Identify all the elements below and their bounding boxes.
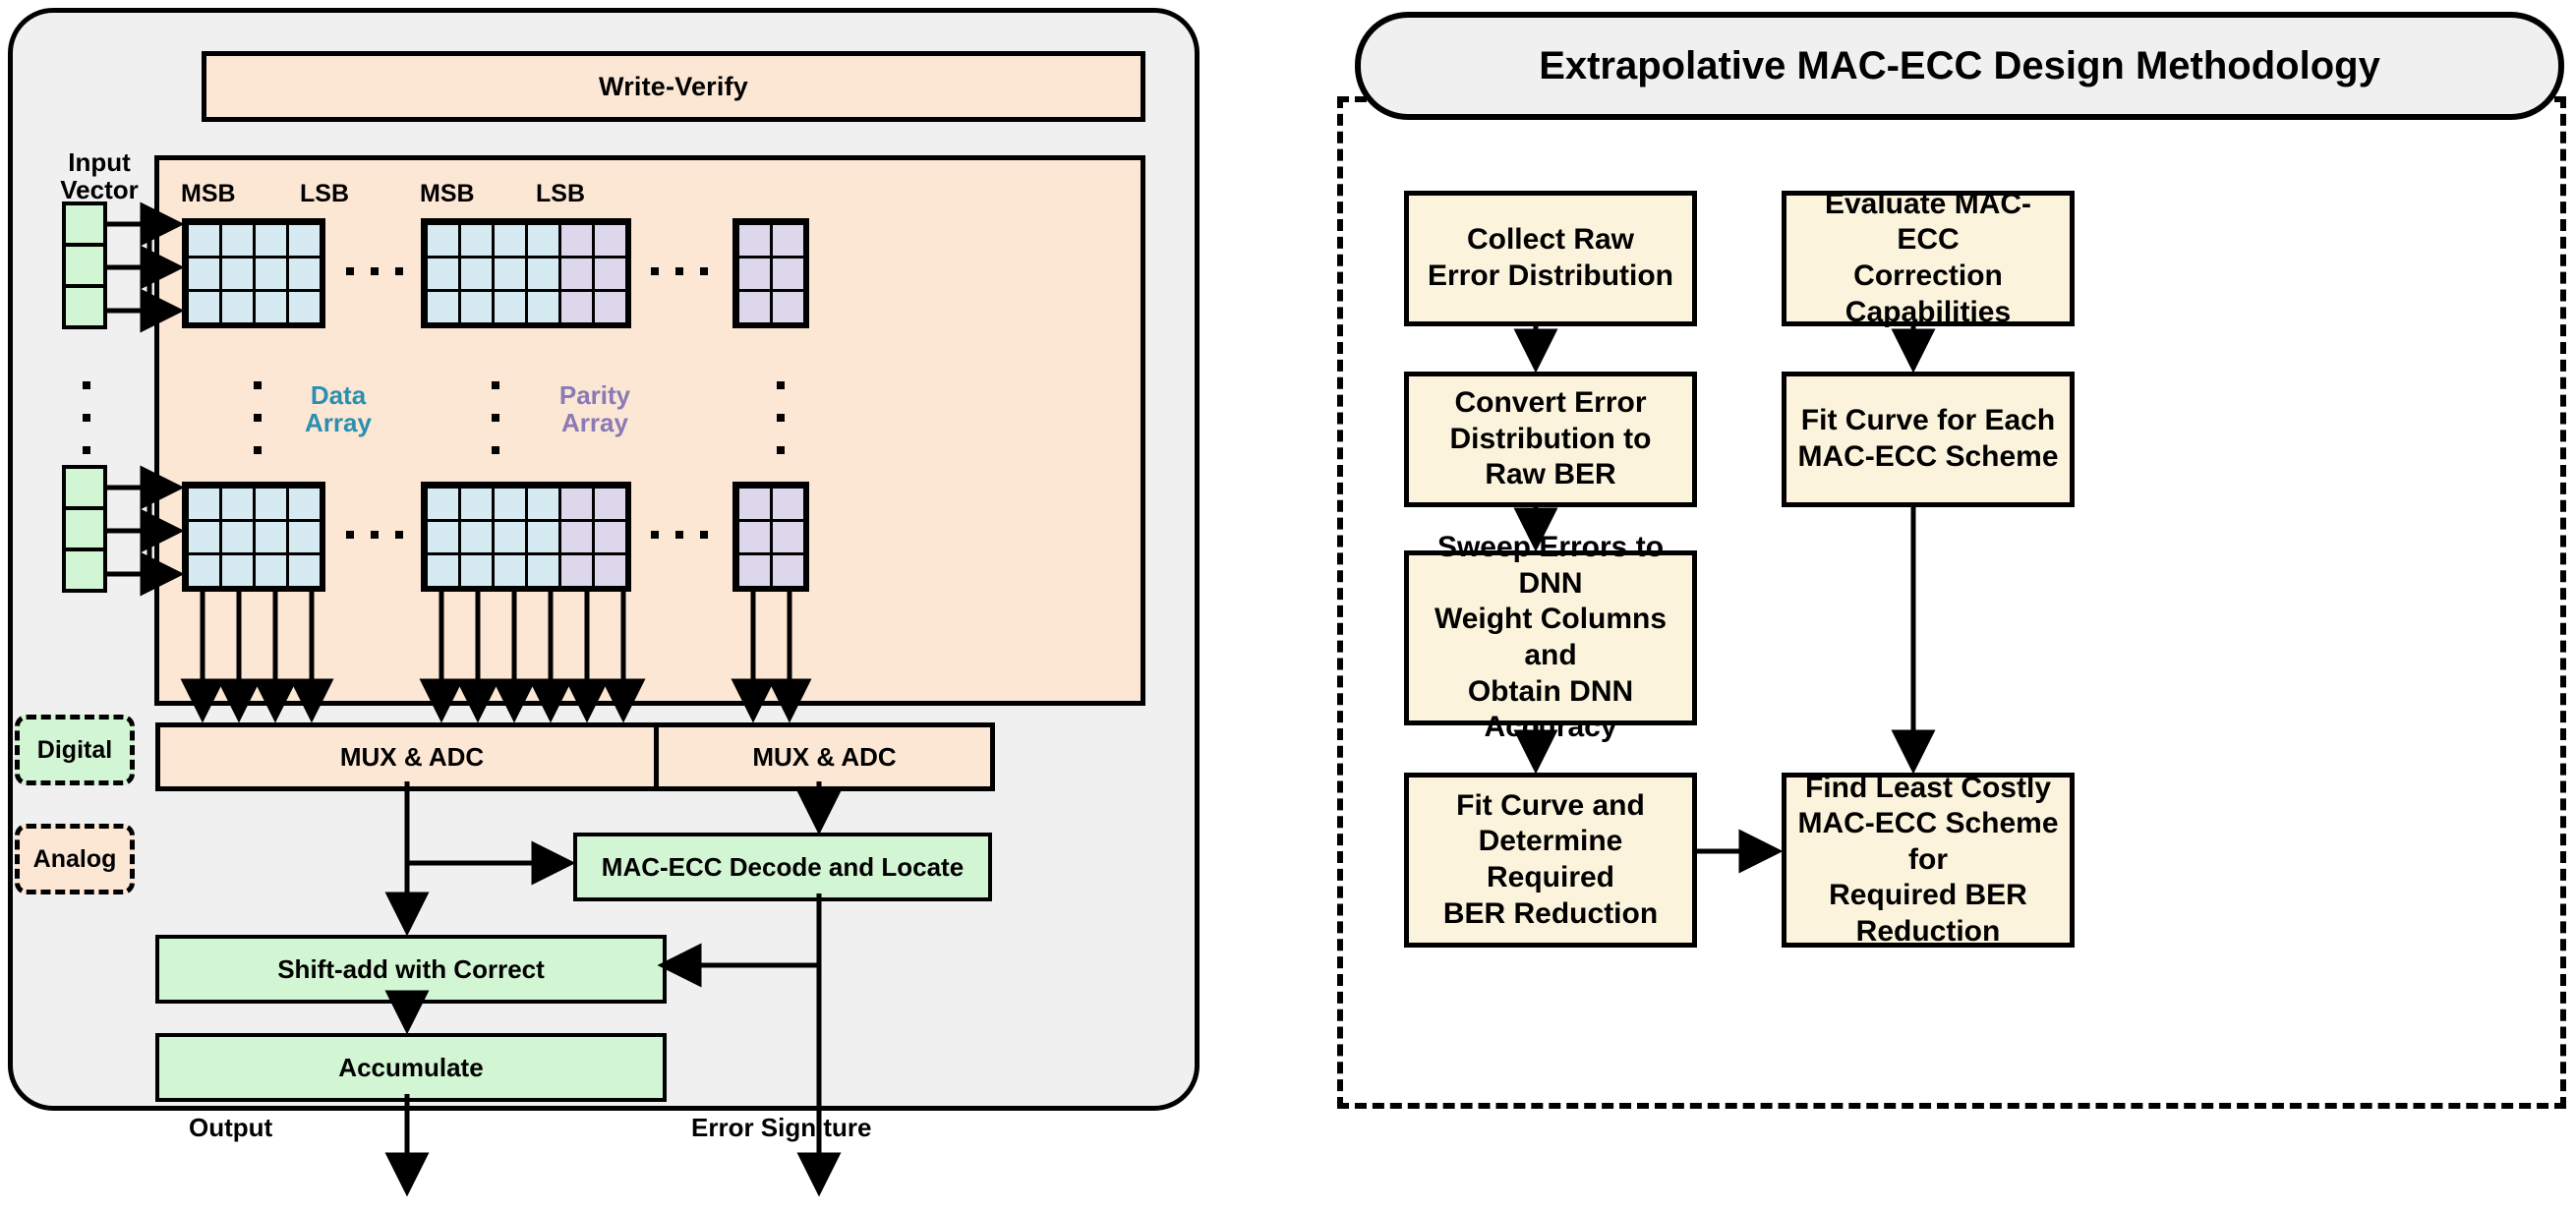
memory-cell bbox=[425, 222, 461, 259]
vertical-ellipsis-dot bbox=[777, 414, 785, 422]
vertical-ellipsis-dot bbox=[83, 381, 90, 389]
parity-cell-block bbox=[732, 218, 809, 328]
horizontal-ellipsis-dot bbox=[346, 531, 354, 539]
parity-cell bbox=[592, 222, 628, 259]
flow-box-evaluate-mac-ecc: Evaluate MAC-ECC Correction Capabilities bbox=[1782, 191, 2075, 326]
horizontal-ellipsis-dot bbox=[675, 531, 683, 539]
flow-box-label: Evaluate MAC-ECC Correction Capabilities bbox=[1796, 187, 2060, 330]
parity-cell bbox=[592, 289, 628, 325]
memory-cell bbox=[492, 486, 528, 522]
input-vector-cell bbox=[62, 465, 107, 510]
memory-cell bbox=[425, 552, 461, 589]
cell-column bbox=[426, 223, 459, 323]
mac-ecc-decode-label: MAC-ECC Decode and Locate bbox=[602, 852, 964, 883]
parity-cell bbox=[592, 486, 628, 522]
memory-cell bbox=[253, 256, 289, 292]
vertical-ellipsis-dot bbox=[777, 381, 785, 389]
parity-cell bbox=[558, 486, 595, 522]
cell-column bbox=[593, 223, 626, 323]
memory-cell bbox=[186, 222, 222, 259]
memory-cell bbox=[286, 222, 322, 259]
parity-cell bbox=[558, 552, 595, 589]
cell-column bbox=[287, 223, 321, 323]
vertical-ellipsis-dot bbox=[254, 446, 262, 454]
parity-cell bbox=[736, 222, 773, 259]
input-vector-cell bbox=[62, 202, 107, 247]
lsb-label-block1: LSB bbox=[300, 180, 349, 208]
flow-box-label: Collect Raw Error Distribution bbox=[1428, 222, 1673, 294]
cell-column bbox=[526, 487, 559, 587]
memory-cell bbox=[219, 552, 256, 589]
horizontal-ellipsis-dot bbox=[371, 531, 379, 539]
shift-add-label: Shift-add with Correct bbox=[277, 954, 545, 985]
memory-cell bbox=[458, 519, 495, 555]
horizontal-ellipsis-dot bbox=[675, 267, 683, 275]
memory-cell bbox=[186, 256, 222, 292]
memory-cell bbox=[219, 289, 256, 325]
memory-cell bbox=[253, 289, 289, 325]
mux-adc-parity-label: MUX & ADC bbox=[752, 742, 896, 773]
input-vector-group-bottom bbox=[62, 465, 107, 593]
memory-cell bbox=[525, 222, 561, 259]
memory-cell bbox=[253, 222, 289, 259]
cell-column bbox=[493, 487, 526, 587]
memory-cell bbox=[253, 519, 289, 555]
msb-label-block2: MSB bbox=[420, 180, 475, 208]
memory-cell bbox=[492, 519, 528, 555]
memory-cell bbox=[425, 519, 461, 555]
memory-cell bbox=[425, 486, 461, 522]
msb-label-block1: MSB bbox=[181, 180, 236, 208]
output-label: Output bbox=[189, 1113, 272, 1143]
memory-cell bbox=[458, 289, 495, 325]
parity-cell bbox=[736, 552, 773, 589]
parity-cell bbox=[558, 222, 595, 259]
parity-cell bbox=[736, 486, 773, 522]
data-parity-cell-block bbox=[421, 218, 631, 328]
mux-adc-data-label: MUX & ADC bbox=[340, 742, 484, 773]
memory-cell bbox=[458, 256, 495, 292]
data-parity-cell-block bbox=[421, 482, 631, 592]
memory-cell bbox=[286, 289, 322, 325]
memory-cell bbox=[525, 552, 561, 589]
mux-adc-data-block: MUX & ADC bbox=[155, 722, 669, 791]
legend-digital: Digital bbox=[15, 715, 135, 785]
horizontal-ellipsis-dot bbox=[700, 267, 708, 275]
parity-cell-block bbox=[732, 482, 809, 592]
memory-cell bbox=[186, 552, 222, 589]
memory-cell bbox=[425, 289, 461, 325]
horizontal-ellipsis-dot bbox=[346, 267, 354, 275]
parity-cell bbox=[736, 289, 773, 325]
parity-cell bbox=[736, 256, 773, 292]
write-verify-block: Write-Verify bbox=[202, 51, 1145, 122]
memory-cell bbox=[492, 256, 528, 292]
cell-column bbox=[187, 487, 220, 587]
memory-cell bbox=[492, 552, 528, 589]
memory-cell bbox=[458, 486, 495, 522]
memory-cell bbox=[186, 289, 222, 325]
accumulate-block: Accumulate bbox=[155, 1033, 667, 1102]
flow-box-fit-curve-determine-ber: Fit Curve and Determine Required BER Red… bbox=[1404, 773, 1697, 948]
cell-column bbox=[559, 487, 593, 587]
memory-cell bbox=[286, 256, 322, 292]
vertical-ellipsis-dot bbox=[492, 381, 499, 389]
cell-column bbox=[426, 487, 459, 587]
methodology-title-banner: Extrapolative MAC-ECC Design Methodology bbox=[1355, 12, 2564, 120]
vertical-ellipsis-dot bbox=[83, 414, 90, 422]
parity-cell bbox=[558, 289, 595, 325]
methodology-title: Extrapolative MAC-ECC Design Methodology bbox=[1539, 44, 2380, 88]
memory-cell bbox=[219, 256, 256, 292]
memory-cell bbox=[525, 289, 561, 325]
parity-cell bbox=[558, 519, 595, 555]
cell-column bbox=[737, 487, 771, 587]
mux-adc-parity-block: MUX & ADC bbox=[654, 722, 995, 791]
memory-cell bbox=[492, 222, 528, 259]
memory-cell bbox=[458, 222, 495, 259]
memory-cell bbox=[525, 486, 561, 522]
horizontal-ellipsis-dot bbox=[700, 531, 708, 539]
vertical-ellipsis-dot bbox=[492, 414, 499, 422]
memory-cell bbox=[253, 552, 289, 589]
cell-column bbox=[593, 487, 626, 587]
cell-column bbox=[220, 487, 254, 587]
horizontal-ellipsis-dot bbox=[395, 531, 403, 539]
input-vector-cell bbox=[62, 547, 107, 593]
memory-cell bbox=[219, 486, 256, 522]
input-vector-cell bbox=[62, 284, 107, 329]
parity-cell bbox=[592, 256, 628, 292]
error-signature-label: Error Signiture bbox=[691, 1113, 871, 1143]
horizontal-ellipsis-dot bbox=[651, 531, 659, 539]
vertical-ellipsis-dot bbox=[492, 446, 499, 454]
flow-box-label: Convert Error Distribution to Raw BER bbox=[1419, 385, 1682, 493]
legend-analog-label: Analog bbox=[33, 845, 117, 874]
shift-add-block: Shift-add with Correct bbox=[155, 935, 667, 1004]
input-vector-group-top bbox=[62, 202, 107, 329]
memory-cell bbox=[458, 552, 495, 589]
parity-array-label: Parity Array bbox=[516, 381, 673, 436]
flow-box-label: Fit Curve and Determine Required BER Red… bbox=[1419, 788, 1682, 932]
flow-box-find-least-costly: Find Least Costly MAC-ECC Scheme for Req… bbox=[1782, 773, 2075, 948]
input-vector-cell bbox=[62, 506, 107, 551]
memory-cell bbox=[219, 222, 256, 259]
parity-cell bbox=[592, 552, 628, 589]
cell-column bbox=[254, 223, 287, 323]
mac-ecc-decode-block: MAC-ECC Decode and Locate bbox=[573, 833, 992, 901]
parity-cell bbox=[770, 222, 806, 259]
cell-column bbox=[459, 487, 493, 587]
accumulate-label: Accumulate bbox=[338, 1053, 483, 1083]
parity-cell bbox=[770, 519, 806, 555]
cell-column bbox=[459, 223, 493, 323]
memory-cell bbox=[286, 486, 322, 522]
parity-cell bbox=[592, 519, 628, 555]
lsb-label-block2: LSB bbox=[536, 180, 585, 208]
cell-column bbox=[493, 223, 526, 323]
cell-column bbox=[187, 223, 220, 323]
legend-digital-label: Digital bbox=[37, 736, 112, 765]
legend-analog: Analog bbox=[15, 824, 135, 894]
parity-cell bbox=[770, 289, 806, 325]
parity-cell bbox=[558, 256, 595, 292]
horizontal-ellipsis-dot bbox=[371, 267, 379, 275]
flow-box-collect-raw-error-distribution: Collect Raw Error Distribution bbox=[1404, 191, 1697, 326]
memory-cell bbox=[492, 289, 528, 325]
horizontal-ellipsis-dot bbox=[651, 267, 659, 275]
memory-cell bbox=[186, 486, 222, 522]
parity-cell bbox=[770, 486, 806, 522]
diagram-canvas: Write-Verify Input Vector MSB LSB MSB LS… bbox=[0, 0, 2576, 1210]
flow-box-label: Sweep Errors to DNN Weight Columns and O… bbox=[1419, 530, 1682, 746]
data-cell-block bbox=[182, 482, 325, 592]
data-cell-block bbox=[182, 218, 325, 328]
memory-cell bbox=[525, 256, 561, 292]
parity-cell bbox=[770, 552, 806, 589]
flow-box-convert-error-distribution: Convert Error Distribution to Raw BER bbox=[1404, 372, 1697, 507]
memory-cell bbox=[219, 519, 256, 555]
memory-cell bbox=[286, 519, 322, 555]
memory-cell bbox=[253, 486, 289, 522]
cell-column bbox=[287, 487, 321, 587]
cell-column bbox=[220, 223, 254, 323]
cell-column bbox=[771, 487, 804, 587]
data-array-label: Data Array bbox=[260, 381, 417, 436]
parity-cell bbox=[770, 256, 806, 292]
horizontal-ellipsis-dot bbox=[395, 267, 403, 275]
cell-column bbox=[254, 487, 287, 587]
input-vector-cell bbox=[62, 243, 107, 288]
flow-box-label: Find Least Costly MAC-ECC Scheme for Req… bbox=[1796, 771, 2060, 951]
cell-column bbox=[737, 223, 771, 323]
memory-cell bbox=[525, 519, 561, 555]
memory-cell bbox=[186, 519, 222, 555]
memory-cell bbox=[425, 256, 461, 292]
flow-box-label: Fit Curve for Each MAC-ECC Scheme bbox=[1797, 403, 2058, 475]
memory-cell bbox=[286, 552, 322, 589]
cell-column bbox=[559, 223, 593, 323]
vertical-ellipsis-dot bbox=[83, 446, 90, 454]
flow-box-fit-curve-each-scheme: Fit Curve for Each MAC-ECC Scheme bbox=[1782, 372, 2075, 507]
flow-box-sweep-errors-dnn: Sweep Errors to DNN Weight Columns and O… bbox=[1404, 550, 1697, 725]
input-vector-label: Input Vector bbox=[45, 149, 153, 203]
cell-column bbox=[771, 223, 804, 323]
vertical-ellipsis-dot bbox=[777, 446, 785, 454]
cell-column bbox=[526, 223, 559, 323]
parity-cell bbox=[736, 519, 773, 555]
write-verify-label: Write-Verify bbox=[599, 72, 748, 102]
